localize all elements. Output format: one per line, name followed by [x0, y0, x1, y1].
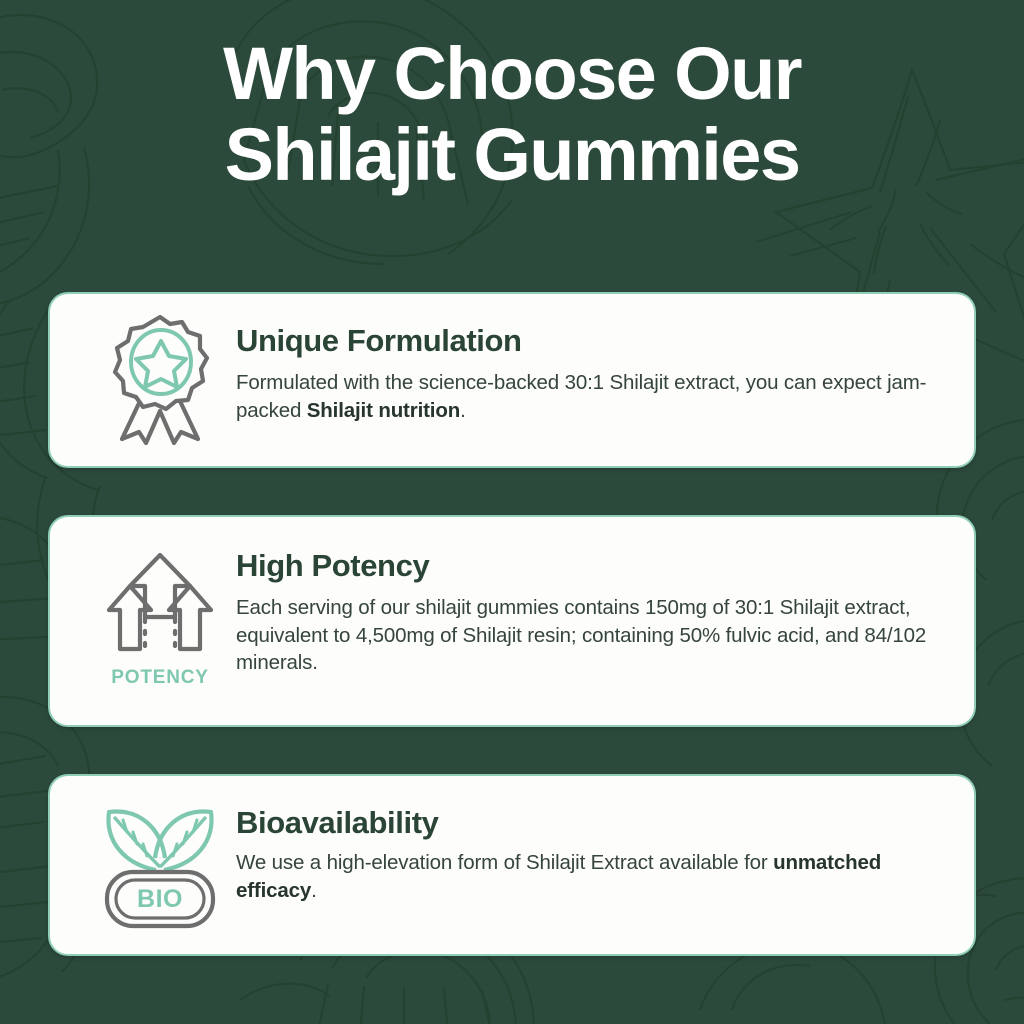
card-description-emphasis: Shilajit nutrition: [307, 399, 460, 422]
card-description-part1: Each serving of our shilajit gummies con…: [236, 596, 926, 674]
bio-leaf-pot-icon-wrapper: BIO: [84, 802, 236, 930]
card-description-part2: .: [311, 879, 317, 902]
potency-icon-label: POTENCY: [111, 667, 208, 689]
card-content: Bioavailability We use a high-elevation …: [236, 804, 944, 904]
bio-icon-label: BIO: [137, 885, 183, 913]
feature-card-list: Unique Formulation Formulated with the s…: [48, 292, 976, 956]
award-ribbon-icon-wrapper: [84, 315, 236, 445]
rising-arrows-icon-wrapper: POTENCY: [84, 553, 236, 689]
card-title: Bioavailability: [236, 806, 944, 839]
card-description-part2: .: [460, 399, 466, 422]
card-description-part1: We use a high-elevation form of Shilajit…: [236, 851, 773, 874]
infographic-page: Why Choose Our Shilajit Gummies: [0, 0, 1024, 1024]
page-title-line-2: Shilajit Gummies: [0, 119, 1024, 192]
feature-card-bioavailability: BIO Bioavailability We use a high-elevat…: [48, 774, 976, 956]
card-title: Unique Formulation: [236, 324, 944, 357]
card-description: Formulated with the science-backed 30:1 …: [236, 369, 944, 424]
rising-arrows-icon: [97, 553, 223, 665]
card-content: High Potency Each serving of our shilaji…: [236, 543, 944, 677]
page-title: Why Choose Our Shilajit Gummies: [0, 38, 1024, 191]
bio-leaf-pot-icon: BIO: [99, 802, 221, 930]
card-description: Each serving of our shilajit gummies con…: [236, 594, 944, 676]
feature-card-high-potency: POTENCY High Potency Each serving of our…: [48, 515, 976, 727]
feature-card-unique-formulation: Unique Formulation Formulated with the s…: [48, 292, 976, 468]
award-ribbon-icon: [108, 315, 212, 445]
page-title-line-1: Why Choose Our: [0, 38, 1024, 111]
card-title: High Potency: [236, 549, 944, 582]
card-content: Unique Formulation Formulated with the s…: [236, 320, 944, 424]
card-description: We use a high-elevation form of Shilajit…: [236, 849, 944, 904]
